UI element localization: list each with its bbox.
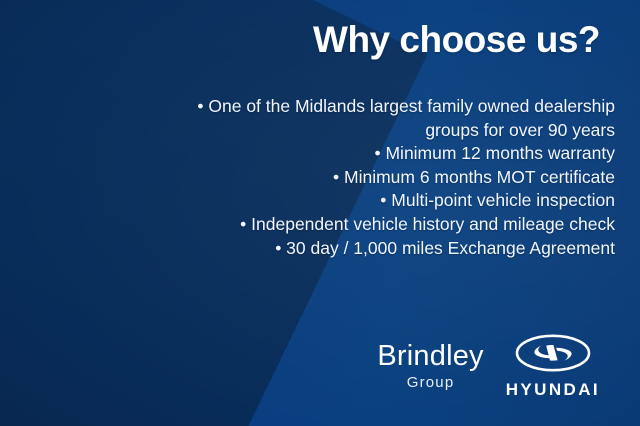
- list-item: • Independent vehicle history and mileag…: [186, 213, 615, 237]
- hyundai-logo: HYUNDAI: [506, 334, 600, 398]
- brindley-wordmark: Brindley: [377, 342, 483, 371]
- logo-row: Brindley Group HYUNDAI: [377, 334, 600, 398]
- content-column: Why choose us? • One of the Midlands lar…: [186, 0, 616, 426]
- list-item: • One of the Midlands largest family own…: [186, 95, 615, 142]
- list-item: • Multi-point vehicle inspection: [186, 189, 615, 213]
- list-item: • Minimum 6 months MOT certificate: [186, 166, 615, 190]
- brindley-group-logo: Brindley Group: [377, 342, 483, 390]
- list-item: • 30 day / 1,000 miles Exchange Agreemen…: [186, 237, 615, 261]
- benefits-list: • One of the Midlands largest family own…: [186, 95, 615, 260]
- brindley-subtitle: Group: [407, 375, 455, 390]
- hyundai-wordmark: HYUNDAI: [506, 381, 600, 398]
- hyundai-h-ellipse-icon: [515, 334, 591, 376]
- list-item: • Minimum 12 months warranty: [186, 142, 615, 166]
- page-title: Why choose us?: [186, 20, 600, 61]
- promo-banner: Why choose us? • One of the Midlands lar…: [0, 0, 640, 426]
